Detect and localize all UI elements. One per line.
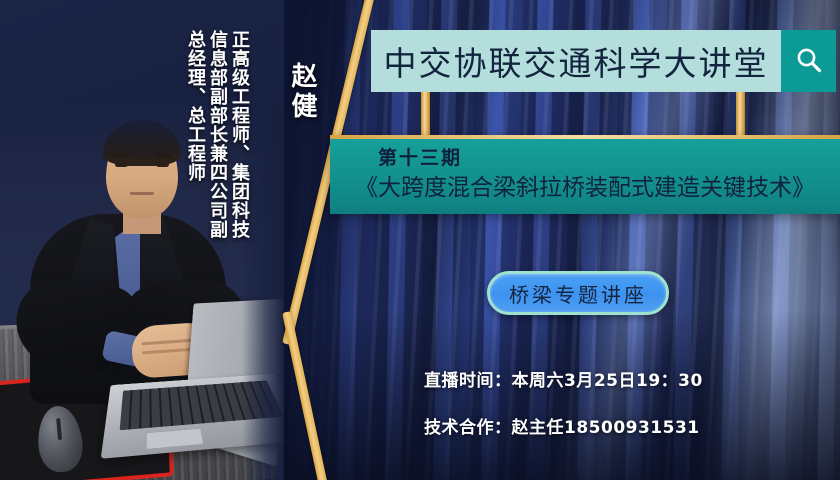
search-button[interactable] — [781, 30, 836, 92]
laptop-trackpad — [146, 428, 205, 450]
person-mouth — [130, 192, 154, 195]
episode-number: 第十三期 — [378, 145, 840, 173]
page-title: 中交协联交通科学大讲堂 — [384, 37, 769, 85]
speaker-title-column-1: 正高级工程师、集团科技 — [230, 30, 248, 280]
search-icon — [794, 46, 824, 76]
livestream-poster: 正高级工程师、集团科技 信息部副部长兼四公司副 总经理、总工程师 赵健 中交协联… — [0, 0, 840, 480]
episode-banner: 第十三期 《大跨度混合梁斜拉桥装配式建造关键技术》 — [330, 135, 840, 214]
header: 中交协联交通科学大讲堂 — [371, 30, 840, 92]
speaker-title-column-2: 信息部副部长兼四公司副 — [208, 30, 226, 280]
speaker-panel: 正高级工程师、集团科技 信息部副部长兼四公司副 总经理、总工程师 — [0, 0, 284, 480]
speaker-name: 赵健 — [284, 62, 321, 122]
episode-title: 《大跨度混合梁斜拉桥装配式建造关键技术》 — [330, 173, 840, 204]
speaker-title-columns: 正高级工程师、集团科技 信息部副部长兼四公司副 总经理、总工程师 — [186, 30, 248, 280]
live-time-line: 直播时间：本周六3月25日19：30 — [424, 366, 824, 391]
person-eye-left — [115, 162, 128, 167]
topic-badge-label: 桥梁专题讲座 — [509, 279, 647, 308]
gold-post-left — [421, 90, 430, 138]
info-block: 直播时间：本周六3月25日19：30 技术合作：赵主任18500931531 — [424, 366, 824, 460]
person-eye-right — [156, 162, 169, 167]
gold-post-right — [736, 90, 745, 138]
speaker-title-column-3: 总经理、总工程师 — [186, 30, 204, 280]
header-bar: 中交协联交通科学大讲堂 — [371, 30, 781, 92]
topic-badge[interactable]: 桥梁专题讲座 — [487, 271, 669, 315]
contact-line: 技术合作：赵主任18500931531 — [424, 413, 824, 438]
